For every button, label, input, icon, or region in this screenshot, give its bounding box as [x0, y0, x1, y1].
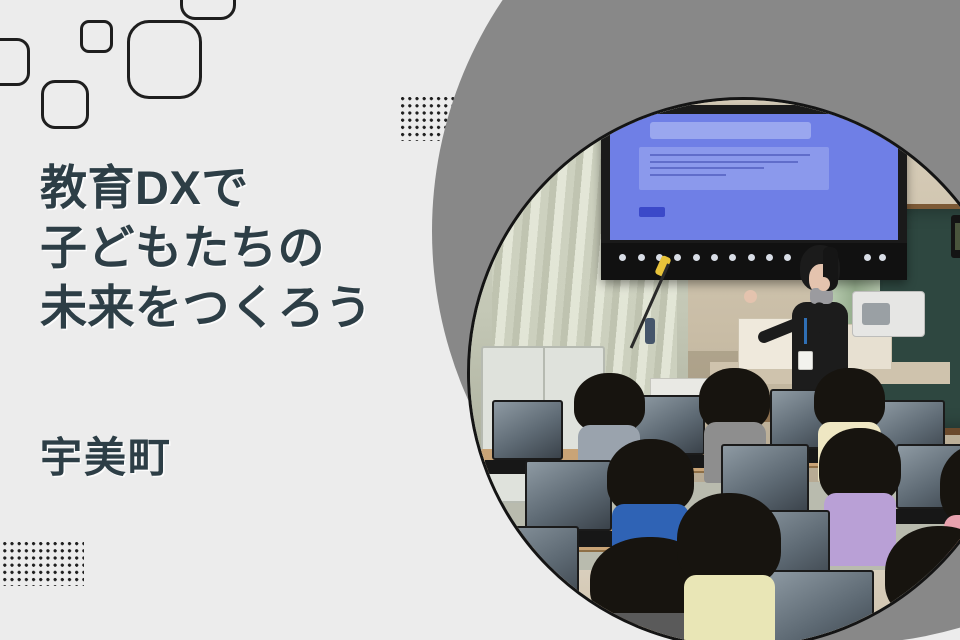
laptop-screen	[492, 400, 563, 460]
student-laptop	[492, 400, 563, 460]
student	[677, 493, 781, 640]
doc-text-line	[650, 167, 764, 169]
taskbar-dot-icon	[879, 254, 886, 261]
taskbar-dot-icon	[784, 254, 791, 261]
laptop-screen	[481, 526, 579, 608]
document-body	[639, 147, 829, 190]
cd-player-speaker	[862, 303, 890, 325]
classroom-photo	[467, 97, 960, 640]
rounded-square-outline-cut	[0, 38, 30, 86]
taskbar-dot-icon	[674, 254, 681, 261]
taskbar-dot-icon	[864, 254, 871, 261]
student-hair	[940, 444, 960, 526]
display-screen	[610, 114, 897, 240]
clock-digits	[955, 223, 960, 251]
digital-clock-icon	[951, 215, 960, 259]
laptop-screen	[525, 460, 612, 531]
teacher-hand	[744, 290, 757, 303]
document-button	[639, 207, 665, 217]
doc-text-line	[650, 161, 798, 163]
document-card	[650, 122, 811, 140]
doc-text-line	[650, 154, 809, 156]
wall-display	[601, 105, 907, 280]
teacher-lanyard	[804, 318, 807, 344]
student-laptop-foreground	[765, 570, 874, 640]
taskbar-dot-icon	[693, 254, 700, 261]
student-hair	[677, 493, 781, 588]
subtitle-municipality: 宇美町	[40, 424, 172, 485]
taskbar-dot-icon	[729, 254, 736, 261]
cd-player	[852, 291, 925, 337]
headline-line-2: 子どもたちの	[40, 218, 470, 278]
student-shirt	[892, 608, 960, 640]
student-hair	[885, 526, 960, 621]
headline-line-1: 教育DXで	[40, 158, 470, 218]
headline-line-3: 未来をつくろう	[40, 278, 470, 338]
taskbar-dot-icon	[711, 254, 718, 261]
taskbar-dot-icon	[766, 254, 773, 261]
laptop-base	[472, 608, 588, 626]
taskbar-dot-icon	[638, 254, 645, 261]
student-laptop	[481, 526, 579, 608]
education-dx-banner: 教育DXで 子どもたちの 未来をつくろう 宇美町	[0, 0, 960, 640]
rounded-square-outline-medium	[41, 80, 89, 129]
doc-text-line	[650, 174, 726, 176]
dot-grid-icon-bottom	[0, 542, 84, 586]
water-bottle	[645, 318, 655, 344]
classroom-photo-scene	[470, 100, 960, 640]
student-shirt	[684, 575, 775, 640]
headline-block: 教育DXで 子どもたちの 未来をつくろう	[40, 158, 470, 338]
rounded-square-outline-small	[80, 20, 113, 53]
display-taskbar	[601, 243, 907, 280]
taskbar-dot-icon	[748, 254, 755, 261]
taskbar-dot-icon	[619, 254, 626, 261]
rounded-square-outline-top	[180, 0, 236, 20]
laptop-screen	[765, 570, 874, 640]
student	[885, 526, 960, 640]
student-laptop	[525, 460, 612, 531]
rounded-square-outline-large	[127, 20, 202, 99]
teacher-id-badge	[798, 351, 813, 370]
